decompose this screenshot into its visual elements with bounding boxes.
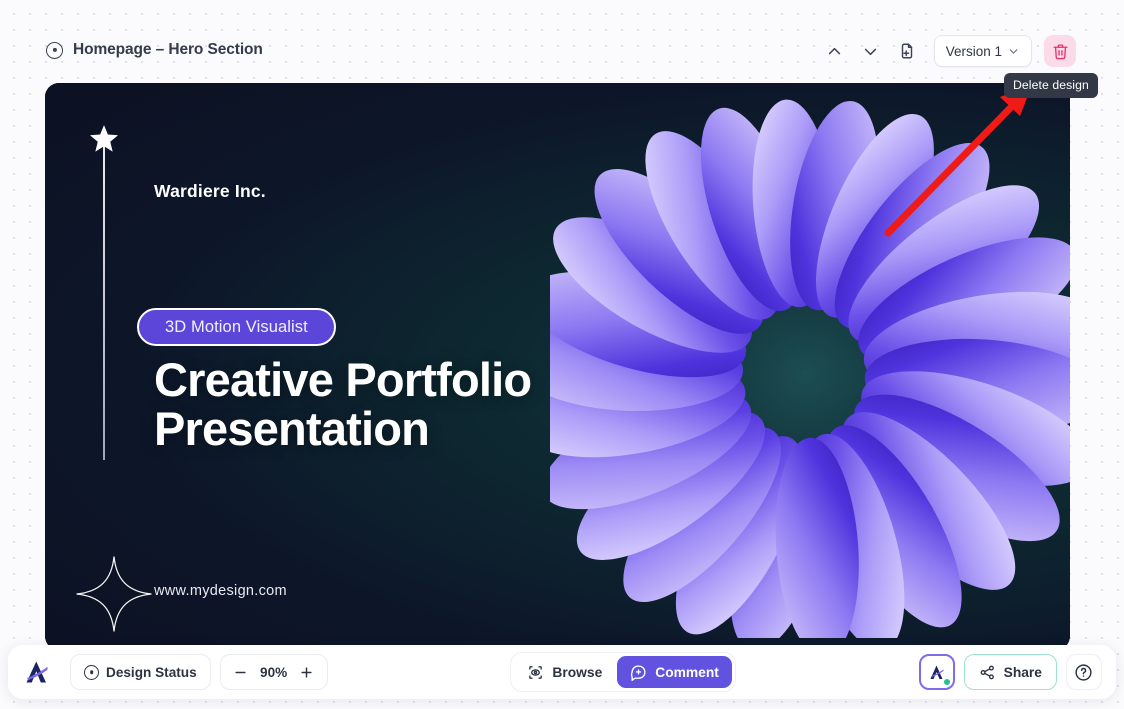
avatar[interactable] bbox=[919, 654, 955, 690]
delete-design-tooltip: Delete design bbox=[1004, 73, 1098, 98]
export-file-icon bbox=[898, 42, 916, 60]
browse-mode-label: Browse bbox=[552, 665, 602, 680]
design-status-label: Design Status bbox=[106, 665, 197, 680]
app-logo-glyph bbox=[22, 657, 52, 687]
design-website-url: www.mydesign.com bbox=[154, 583, 287, 599]
bottom-toolbar: Design Status 90% Browse bbox=[8, 645, 1116, 699]
app-logo-icon[interactable] bbox=[14, 657, 60, 687]
comment-add-icon bbox=[630, 664, 647, 681]
share-label: Share bbox=[1004, 665, 1042, 680]
design-badge: 3D Motion Visualist bbox=[137, 308, 336, 346]
share-nodes-icon bbox=[979, 664, 996, 681]
page-title: Homepage – Hero Section bbox=[73, 41, 263, 59]
design-headline: Creative Portfolio Presentation bbox=[154, 355, 531, 453]
delete-design-button[interactable] bbox=[1044, 35, 1076, 67]
zoom-out-button[interactable] bbox=[227, 655, 255, 689]
online-status-dot bbox=[943, 678, 951, 686]
bottom-toolbar-right: Share bbox=[919, 654, 1102, 690]
zoom-control: 90% bbox=[220, 654, 328, 690]
zoom-in-button[interactable] bbox=[293, 655, 321, 689]
record-circle-icon bbox=[84, 665, 99, 680]
chevron-down-icon bbox=[862, 43, 879, 60]
browse-mode-button[interactable]: Browse bbox=[514, 656, 615, 688]
mode-group: Browse Comment bbox=[510, 652, 735, 692]
help-button[interactable] bbox=[1066, 654, 1102, 690]
move-down-button[interactable] bbox=[853, 34, 889, 68]
chevron-up-icon bbox=[826, 43, 843, 60]
version-selector[interactable]: Version 1 bbox=[934, 35, 1032, 67]
star-icon bbox=[88, 123, 120, 155]
top-toolbar: Homepage – Hero Section Version 1 bbox=[0, 0, 1124, 83]
move-up-button[interactable] bbox=[817, 34, 853, 68]
design-headline-line2: Presentation bbox=[154, 404, 531, 453]
help-circle-icon bbox=[1074, 663, 1093, 682]
breadcrumb: Homepage – Hero Section bbox=[46, 41, 263, 59]
plus-icon bbox=[299, 665, 314, 680]
comment-mode-button[interactable]: Comment bbox=[617, 656, 732, 688]
export-button[interactable] bbox=[889, 34, 925, 68]
3d-torus-graphic bbox=[550, 98, 1070, 638]
mode-switcher: Browse Comment bbox=[510, 652, 735, 692]
design-status-button[interactable]: Design Status bbox=[70, 654, 211, 690]
trash-icon bbox=[1052, 43, 1069, 60]
minus-icon bbox=[233, 665, 248, 680]
record-circle-icon bbox=[46, 42, 63, 59]
sparkle-icon bbox=[75, 555, 153, 633]
design-artboard: Wardiere Inc. 3D Motion Visualist Creati… bbox=[45, 83, 1070, 650]
zoom-level-value: 90% bbox=[255, 665, 293, 680]
comment-mode-label: Comment bbox=[655, 665, 719, 680]
design-brand-name: Wardiere Inc. bbox=[154, 181, 266, 202]
chevron-down-icon bbox=[1007, 45, 1020, 58]
design-headline-line1: Creative Portfolio bbox=[154, 355, 531, 404]
share-button[interactable]: Share bbox=[964, 654, 1057, 690]
decorative-vertical-line bbox=[103, 140, 105, 460]
design-canvas[interactable]: Wardiere Inc. 3D Motion Visualist Creati… bbox=[45, 83, 1070, 650]
browse-eye-icon bbox=[527, 664, 544, 681]
top-toolbar-actions: Version 1 bbox=[817, 34, 1076, 68]
version-label: Version 1 bbox=[946, 44, 1002, 59]
